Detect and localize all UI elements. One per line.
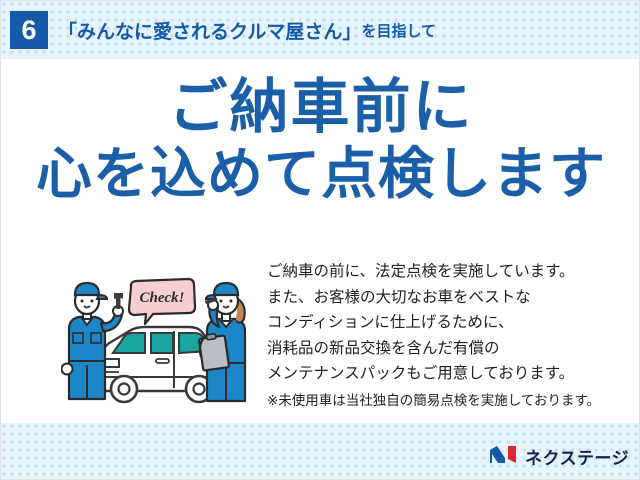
header-title-quoted: 「みんなに愛されるクルマ屋さん」 [58,17,361,44]
body-line-5: メンテナンスパックもご用意しております。 [267,361,637,387]
header-title-tail: を目指して [361,20,436,41]
section-number-badge: 6 [10,11,48,49]
body-line-3: コンディションに仕上げるために、 [267,310,637,336]
advertisement-page: 6 「みんなに愛されるクルマ屋さん」 を目指して ご納車前に 心を込めて点検しま… [0,0,640,480]
body-line-2: また、お客様の大切なお車をベストな [267,285,637,311]
speech-bubble-label: Check! [140,290,185,306]
headline-line-2: 心を込めて点検します [1,145,640,202]
nextage-n-mark-icon [489,445,519,469]
brand-name: ネクステージ [525,444,629,469]
brand-logo: ネクステージ [489,444,629,469]
body-line-1: ご納車の前に、法定点検を実施しています。 [267,259,637,285]
check-speech-bubble: Check! [129,279,195,324]
headline: ご納車前に 心を込めて点検します [1,77,640,202]
body-footnote: ※未使用車は当社独自の簡易点検を実施しております。 [267,389,637,413]
headline-line-1: ご納車前に [1,77,640,137]
body-line-4: 消耗品の新品交換を含んだ有償の [267,336,637,362]
mechanics-illustration: Check! [61,273,266,405]
body-copy: ご納車の前に、法定点検を実施しています。 また、お客様の大切なお車をベストな コ… [267,259,637,413]
header-title: 「みんなに愛されるクルマ屋さん」 を目指して [58,14,436,46]
